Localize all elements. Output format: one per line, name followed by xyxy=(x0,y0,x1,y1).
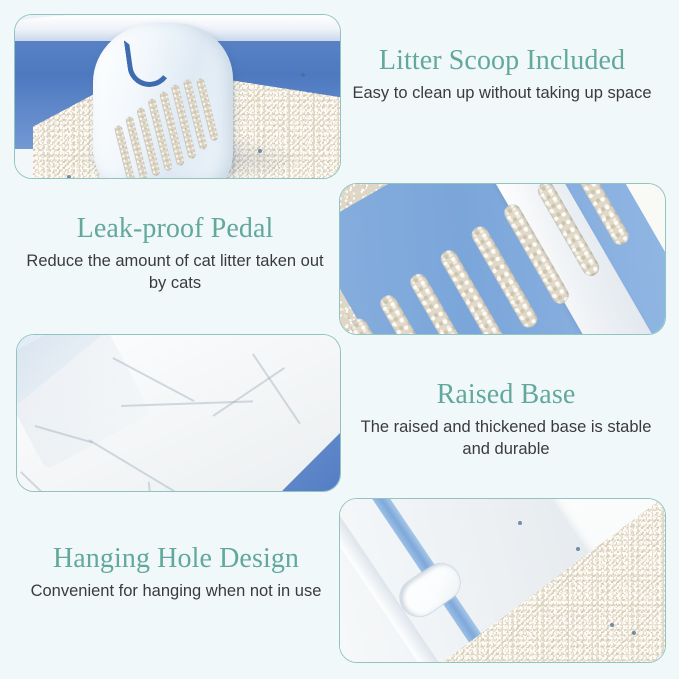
scoop-handle-hook-icon xyxy=(124,34,175,90)
feature-text-raised-base: Raised Base The raised and thickened bas… xyxy=(352,378,660,461)
feature-text-litter-scoop: Litter Scoop Included Easy to clean up w… xyxy=(347,44,657,105)
litter-speck xyxy=(632,631,636,635)
litter-speck xyxy=(67,175,71,179)
photo-leak-proof-pedal xyxy=(339,183,666,335)
feature-subtitle-leak-proof-pedal: Reduce the amount of cat litter taken ou… xyxy=(16,251,334,295)
litter-speck xyxy=(576,547,580,551)
feature-heading-litter-scoop: Litter Scoop Included xyxy=(347,44,657,77)
feature-subtitle-hanging-hole: Convenient for hanging when not in use xyxy=(14,581,338,603)
feature-text-leak-proof-pedal: Leak-proof Pedal Reduce the amount of ca… xyxy=(16,212,334,295)
litter-speck xyxy=(301,73,305,77)
feature-heading-hanging-hole: Hanging Hole Design xyxy=(14,542,338,575)
litter-speck xyxy=(610,623,614,627)
litter-speck xyxy=(518,521,522,525)
litter-scoop xyxy=(93,23,233,179)
scoop-slot-group xyxy=(105,73,237,179)
feature-heading-raised-base: Raised Base xyxy=(352,378,660,411)
photo-raised-base xyxy=(16,334,341,492)
feature-heading-leak-proof-pedal: Leak-proof Pedal xyxy=(16,212,334,245)
feature-infographic: Litter Scoop Included Easy to clean up w… xyxy=(0,0,679,679)
feature-subtitle-raised-base: The raised and thickened base is stable … xyxy=(352,417,660,461)
photo-hanging-hole xyxy=(339,498,666,663)
photo-litter-scoop xyxy=(14,14,341,179)
feature-subtitle-litter-scoop: Easy to clean up without taking up space xyxy=(347,83,657,105)
feature-text-hanging-hole: Hanging Hole Design Convenient for hangi… xyxy=(14,542,338,603)
